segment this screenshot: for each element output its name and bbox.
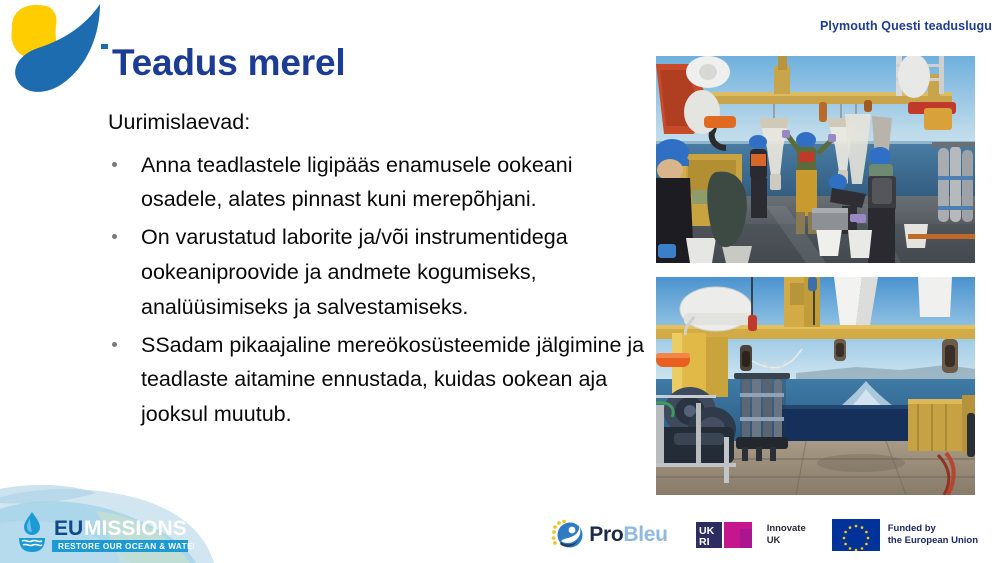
bullet-dot-icon [112, 162, 117, 167]
eu-missions-eu-text: EU [54, 517, 83, 540]
eu-funded-wordmark: Funded by the European Union [888, 523, 978, 547]
bullet-text: On varustatud laborite ja/või instrument… [141, 225, 568, 319]
problue-pro-text: Pro [589, 523, 623, 546]
ukri-mark-icon: UK RI [694, 518, 760, 552]
innovate-uk-logo: UK RI Innovate UK [694, 518, 806, 552]
footer-logo-strip: ProBleu UK RI Innovate UK [550, 513, 978, 557]
svg-text:RI: RI [699, 536, 710, 548]
problue-logo: ProBleu [550, 519, 667, 551]
eu-missions-missions-text: MISSIONS [84, 517, 187, 540]
eu-funded-line2: the European Union [888, 535, 978, 547]
eu-missions-tagline-text: RESTORE OUR OCEAN & WATERS [58, 542, 194, 551]
problue-mark-icon [550, 519, 584, 551]
slide-root: Plymouth Questi teaduslugu Teadus merel … [0, 0, 1000, 563]
eu-missions-logo: EU MISSIONS RESTORE OUR OCEAN & WATERS [14, 510, 194, 554]
bullet-text: SSadam pikaajaline mereökosüsteemide jäl… [141, 333, 644, 427]
bullet-text: Anna teadlastele ligipääs enamusele ooke… [141, 153, 573, 212]
photo-research-vessel-deck-crew [656, 56, 975, 263]
leaf-mark-logo [4, 0, 108, 100]
list-item: On varustatud laborite ja/või instrument… [106, 220, 654, 324]
intro-text: Uurimislaevad: [106, 112, 654, 134]
eu-funded-line1: Funded by [888, 523, 978, 535]
eu-funded-logo: Funded by the European Union [832, 519, 978, 551]
bullet-dot-icon [112, 342, 117, 347]
list-item: SSadam pikaajaline mereökosüsteemide jäl… [106, 328, 654, 432]
innovate-uk-line1: Innovate [767, 523, 806, 535]
photo-research-vessel-aft-deck-ctd [656, 277, 975, 495]
innovate-uk-wordmark: Innovate UK [767, 523, 806, 546]
problue-bleu-text: Bleu [623, 523, 667, 546]
bullet-list: Anna teadlastele ligipääs enamusele ooke… [106, 148, 654, 433]
problue-wordmark: ProBleu [589, 523, 667, 547]
list-item: Anna teadlastele ligipääs enamusele ooke… [106, 148, 654, 218]
eu-flag-icon [832, 519, 880, 551]
page-title: Teadus merel [112, 44, 345, 83]
bullet-dot-icon [112, 234, 117, 239]
innovate-uk-line2: UK [767, 535, 806, 547]
slide-eyebrow-text: Plymouth Questi teaduslugu [820, 19, 992, 33]
body-content: Uurimislaevad: Anna teadlastele ligipääs… [106, 112, 654, 435]
